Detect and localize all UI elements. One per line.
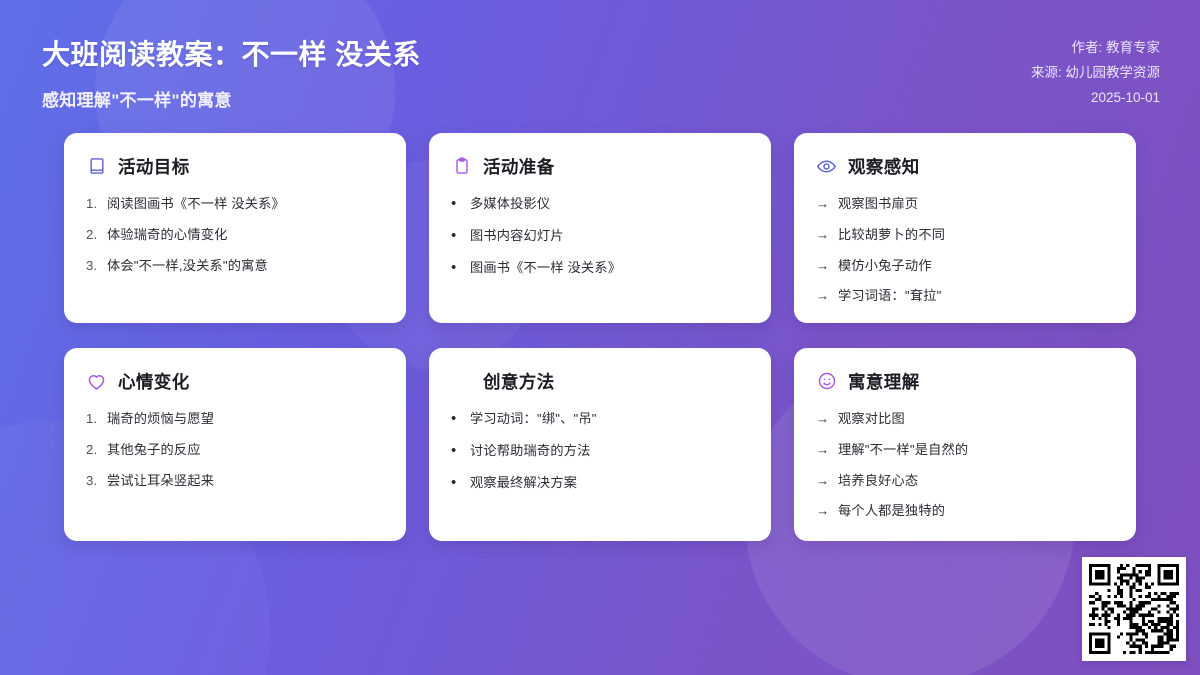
card-5: 创意方法•学习动词："绑"、"吊"•讨论帮助瑞奇的方法•观察最终解决方案: [429, 348, 771, 541]
card-title: 观察感知: [848, 154, 920, 179]
card-header: 观察感知: [816, 153, 1114, 179]
list-item-text: 体会"不一样,没关系"的寓意: [107, 257, 268, 275]
card-list: 1.瑞奇的烦恼与愿望2.其他兔子的反应3.尝试让耳朵竖起来: [86, 410, 384, 489]
list-item-text: 观察对比图: [838, 410, 905, 428]
list-item: 3.尝试让耳朵竖起来: [86, 472, 384, 490]
list-item: 1.阅读图画书《不一样 没关系》: [86, 195, 384, 213]
card-title: 心情变化: [118, 369, 190, 394]
list-item-text: 体验瑞奇的心情变化: [107, 226, 228, 244]
list-marker-bullet: •: [451, 442, 459, 459]
list-item: →观察图书扉页: [816, 195, 1114, 213]
header-meta: 作者: 教育专家 来源: 幼儿园教学资源 2025-10-01: [1031, 30, 1160, 111]
list-marker-bullet: •: [451, 259, 459, 276]
card-grid: 活动目标1.阅读图画书《不一样 没关系》2.体验瑞奇的心情变化3.体会"不一样,…: [64, 133, 1136, 541]
list-item: •图书内容幻灯片: [451, 227, 749, 245]
list-item-text: 理解"不一样"是自然的: [838, 441, 968, 459]
card-list: →观察图书扉页→比较胡萝卜的不同→模仿小兔子动作→学习词语："耷拉": [816, 195, 1114, 305]
list-marker-number: 1.: [86, 195, 99, 213]
list-item: 2.体验瑞奇的心情变化: [86, 226, 384, 244]
list-item-text: 学习动词："绑"、"吊": [470, 410, 597, 428]
page-title: 大班阅读教案：不一样 没关系: [42, 38, 421, 72]
list-marker-number: 3.: [86, 472, 99, 490]
list-item-text: 阅读图画书《不一样 没关系》: [107, 195, 285, 213]
list-marker-arrow: →: [816, 226, 830, 244]
list-item-text: 图画书《不一样 没关系》: [470, 259, 621, 277]
card-header: 活动目标: [86, 153, 384, 179]
list-marker-number: 1.: [86, 410, 99, 428]
card-3: 观察感知→观察图书扉页→比较胡萝卜的不同→模仿小兔子动作→学习词语："耷拉": [794, 133, 1136, 323]
eye-icon: [816, 156, 837, 177]
list-item-text: 图书内容幻灯片: [470, 227, 564, 245]
header-title-group: 大班阅读教案：不一样 没关系 感知理解"不一样"的寓意: [42, 30, 421, 111]
list-item: 3.体会"不一样,没关系"的寓意: [86, 257, 384, 275]
card-header: 寓意理解: [816, 368, 1114, 394]
card-list: •多媒体投影仪•图书内容幻灯片•图画书《不一样 没关系》: [451, 195, 749, 276]
list-marker-arrow: →: [816, 287, 830, 305]
card-1: 活动目标1.阅读图画书《不一样 没关系》2.体验瑞奇的心情变化3.体会"不一样,…: [64, 133, 406, 323]
card-2: 活动准备•多媒体投影仪•图书内容幻灯片•图画书《不一样 没关系》: [429, 133, 771, 323]
list-item: •多媒体投影仪: [451, 195, 749, 213]
qr-code[interactable]: [1082, 557, 1186, 661]
smiley-icon: [816, 371, 837, 392]
slide-root: 大班阅读教案：不一样 没关系 感知理解"不一样"的寓意 作者: 教育专家 来源:…: [0, 0, 1200, 675]
list-item: •学习动词："绑"、"吊": [451, 410, 749, 428]
list-marker-arrow: →: [816, 441, 830, 459]
list-marker-arrow: →: [816, 502, 830, 520]
list-item: 1.瑞奇的烦恼与愿望: [86, 410, 384, 428]
list-marker-arrow: →: [816, 472, 830, 490]
list-item: →培养良好心态: [816, 472, 1114, 490]
list-item: →学习词语："耷拉": [816, 287, 1114, 305]
slide-header: 大班阅读教案：不一样 没关系 感知理解"不一样"的寓意 作者: 教育专家 来源:…: [0, 0, 1200, 128]
list-item: →比较胡萝卜的不同: [816, 226, 1114, 244]
qr-code-image: [1089, 564, 1179, 654]
list-marker-bullet: •: [451, 195, 459, 212]
card-list: →观察对比图→理解"不一样"是自然的→培养良好心态→每个人都是独特的: [816, 410, 1114, 520]
list-marker-arrow: →: [816, 257, 830, 275]
list-item-text: 学习词语："耷拉": [838, 287, 941, 305]
list-item: •讨论帮助瑞奇的方法: [451, 442, 749, 460]
meta-date: 2025-10-01: [1031, 86, 1160, 111]
list-marker-number: 3.: [86, 257, 99, 275]
list-marker-arrow: →: [816, 410, 830, 428]
list-item-text: 培养良好心态: [838, 472, 918, 490]
list-marker-bullet: •: [451, 410, 459, 427]
card-title: 活动准备: [483, 154, 555, 179]
list-item-text: 尝试让耳朵竖起来: [107, 472, 214, 490]
list-item: →理解"不一样"是自然的: [816, 441, 1114, 459]
list-item: →每个人都是独特的: [816, 502, 1114, 520]
list-marker-bullet: •: [451, 227, 459, 244]
list-marker-arrow: →: [816, 195, 830, 213]
meta-author: 作者: 教育专家: [1031, 36, 1160, 61]
card-header: 活动准备: [451, 153, 749, 179]
list-marker-number: 2.: [86, 441, 99, 459]
list-item-text: 模仿小兔子动作: [838, 257, 932, 275]
book-icon: [86, 156, 107, 177]
list-item: →观察对比图: [816, 410, 1114, 428]
meta-source: 来源: 幼儿园教学资源: [1031, 61, 1160, 86]
list-item: →模仿小兔子动作: [816, 257, 1114, 275]
card-title: 活动目标: [118, 154, 190, 179]
list-marker-bullet: •: [451, 474, 459, 491]
list-item: •图画书《不一样 没关系》: [451, 259, 749, 277]
list-item-text: 瑞奇的烦恼与愿望: [107, 410, 214, 428]
heart-icon: [86, 371, 107, 392]
card-4: 心情变化1.瑞奇的烦恼与愿望2.其他兔子的反应3.尝试让耳朵竖起来: [64, 348, 406, 541]
list-item-text: 讨论帮助瑞奇的方法: [470, 442, 591, 460]
list-item-text: 观察最终解决方案: [470, 474, 577, 492]
card-header: 心情变化: [86, 368, 384, 394]
card-title: 创意方法: [483, 369, 555, 394]
card-list: •学习动词："绑"、"吊"•讨论帮助瑞奇的方法•观察最终解决方案: [451, 410, 749, 491]
list-marker-number: 2.: [86, 226, 99, 244]
list-item: 2.其他兔子的反应: [86, 441, 384, 459]
card-header: 创意方法: [451, 368, 749, 394]
list-item-text: 多媒体投影仪: [470, 195, 550, 213]
card-6: 寓意理解→观察对比图→理解"不一样"是自然的→培养良好心态→每个人都是独特的: [794, 348, 1136, 541]
page-subtitle: 感知理解"不一样"的寓意: [42, 86, 421, 111]
clipboard-icon: [451, 156, 472, 177]
list-item-text: 观察图书扉页: [838, 195, 918, 213]
list-item: •观察最终解决方案: [451, 474, 749, 492]
list-item-text: 其他兔子的反应: [107, 441, 201, 459]
list-item-text: 比较胡萝卜的不同: [838, 226, 945, 244]
card-list: 1.阅读图画书《不一样 没关系》2.体验瑞奇的心情变化3.体会"不一样,没关系"…: [86, 195, 384, 274]
list-item-text: 每个人都是独特的: [838, 502, 945, 520]
card-title: 寓意理解: [848, 369, 920, 394]
